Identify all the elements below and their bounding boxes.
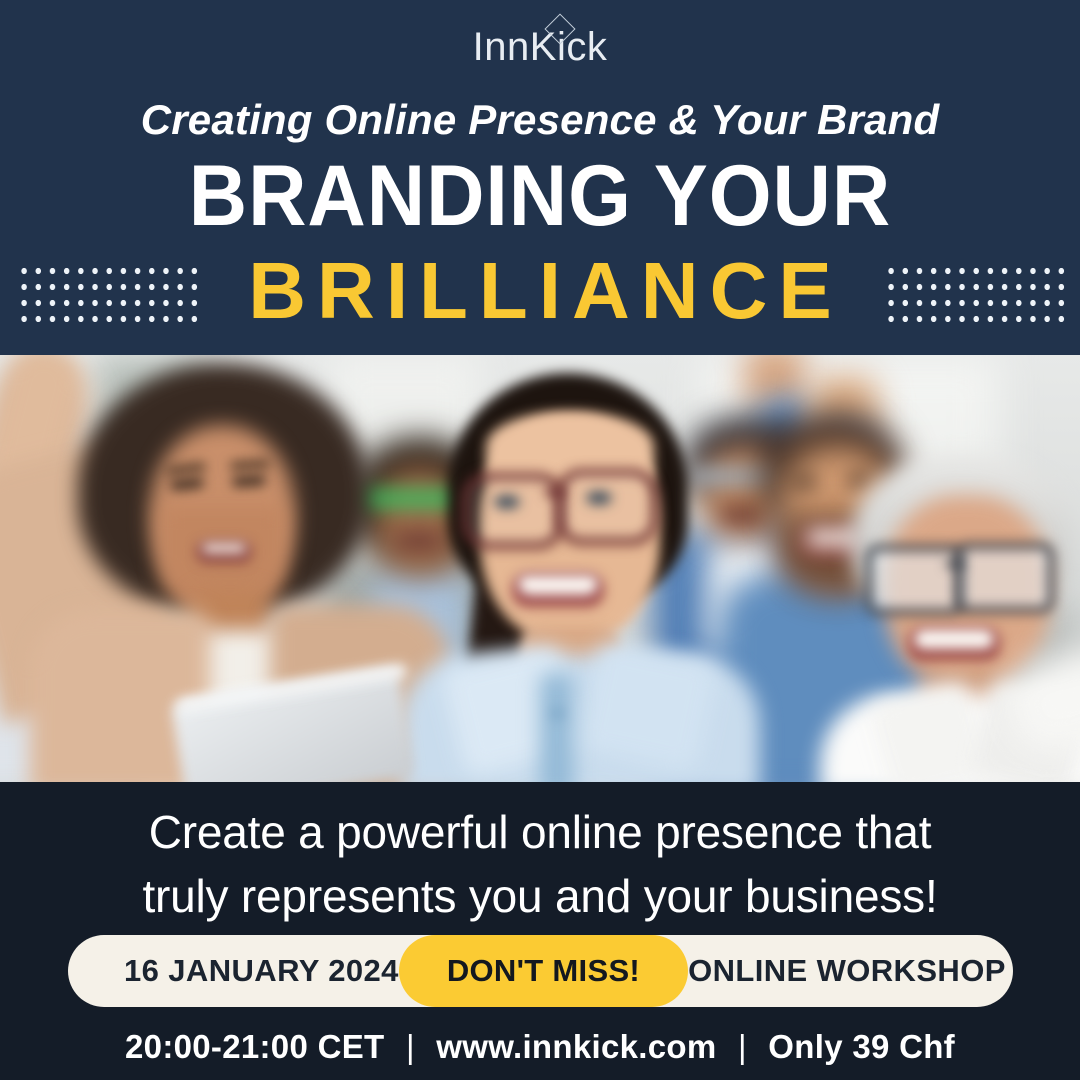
footer-separator: | [394, 1028, 427, 1065]
dont-miss-button[interactable]: DON'T MISS! [399, 935, 688, 1007]
lower-band: Create a powerful online presence that t… [0, 782, 1080, 1080]
title-line-2: BRILLIANCE [237, 246, 842, 336]
glasses-icon [866, 545, 964, 615]
header-band: InnKick Creating Online Presence & Your … [0, 0, 1080, 355]
info-pill-bar: 16 JANUARY 2024 DON'T MISS! ONLINE WORKS… [68, 935, 1013, 1007]
footer-details: 20:00-21:00 CET | www.innkick.com | Only… [0, 1028, 1080, 1066]
photo-person-center [540, 673, 574, 782]
kicker-text: Creating Online Presence & Your Brand [0, 96, 1080, 144]
photo-person-background [846, 475, 872, 485]
hero-photo [0, 355, 1080, 782]
logo-inner: InnKick [473, 22, 608, 72]
footer-separator: | [726, 1028, 759, 1065]
tagline-line-1: Create a powerful online presence that [149, 806, 932, 858]
dot-grid-right-icon [881, 260, 1066, 322]
title-line-1: BRANDING YOUR [32, 148, 1047, 244]
glasses-icon [545, 489, 565, 496]
title-line-2-row: BRILLIANCE [0, 243, 1080, 339]
event-date: 16 JANUARY 2024 [124, 953, 399, 989]
brand-logo[interactable]: InnKick [0, 22, 1080, 78]
glasses-icon [956, 543, 1054, 613]
event-time: 20:00-21:00 CET [125, 1028, 384, 1065]
photo-person-center [551, 707, 564, 720]
website-link[interactable]: www.innkick.com [436, 1028, 716, 1065]
photo-person-right [914, 629, 994, 649]
tagline-line-2: truly represents you and your business! [0, 864, 1080, 928]
glasses-icon [946, 561, 964, 567]
dot-grid-left-icon [14, 260, 199, 322]
tagline: Create a powerful online presence that t… [0, 800, 1080, 928]
photo-person-center [518, 575, 598, 595]
photo-person-left [202, 543, 246, 553]
event-price: Only 39 Chf [768, 1028, 955, 1065]
logo-text: InnKick [473, 25, 608, 69]
event-format: ONLINE WORKSHOP [688, 953, 1006, 989]
photo-person-background [792, 477, 818, 487]
glasses-icon [556, 469, 658, 545]
photo-person-background [720, 507, 764, 523]
promo-poster: InnKick Creating Online Presence & Your … [0, 0, 1080, 1080]
glasses-icon [462, 473, 564, 549]
photo-person-background [396, 533, 442, 549]
